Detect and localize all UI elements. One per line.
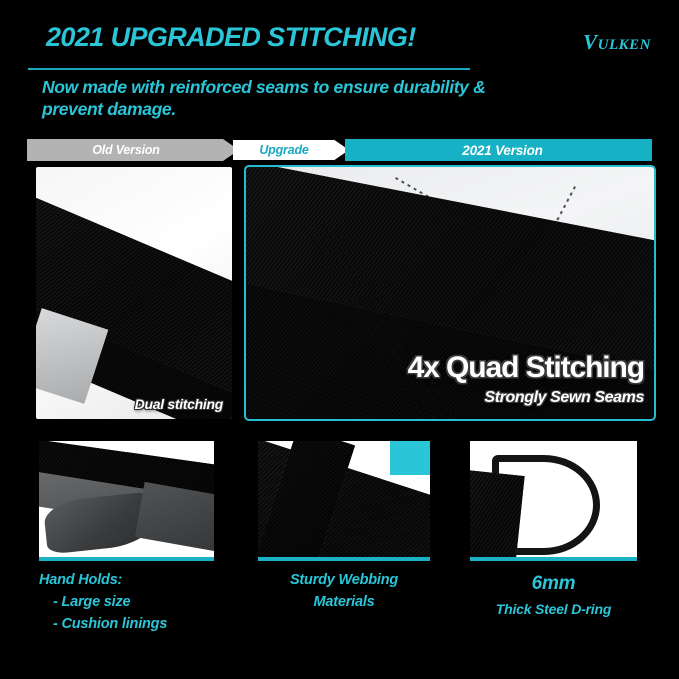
new-version-caption-sub: Strongly Sewn Seams xyxy=(484,389,644,407)
old-version-caption: Dual stitching xyxy=(135,396,223,412)
feature-title-webbing: Sturdy Webbing xyxy=(258,570,430,592)
page-subtitle: Now made with reinforced seams to ensure… xyxy=(42,76,512,121)
feature-caption-hand-holds: Hand Holds: - Large size - Cushion linin… xyxy=(39,570,214,635)
feature-title-hand-holds: Hand Holds: xyxy=(39,570,214,592)
feature-caption-dring: 6mm Thick Steel D-ring xyxy=(470,570,637,620)
brand-logo: Vulken xyxy=(583,30,651,55)
feature-subtitle-dring: Thick Steel D-ring xyxy=(470,599,637,620)
header-divider xyxy=(28,68,470,70)
feature-underline-1 xyxy=(39,557,214,561)
banner-segment-upgrade-label: Upgrade xyxy=(259,143,308,157)
feature-underline-3 xyxy=(470,557,637,561)
feature-title-dring: 6mm xyxy=(470,570,637,599)
feature-panel-dring: 6mm Thick Steel D-ring xyxy=(470,441,637,620)
banner-segment-old-version: Old Version xyxy=(27,139,239,161)
feature-underline-2 xyxy=(258,557,430,561)
banner-segment-2021-version-label: 2021 Version xyxy=(462,143,542,158)
feature-photo-hand-holds xyxy=(39,441,214,561)
feature-photo-dring xyxy=(470,441,637,561)
feature-bullet-large-size: - Large size xyxy=(39,592,214,614)
old-version-photo: Dual stitching xyxy=(36,167,232,419)
feature-bullet-cushion-linings: - Cushion linings xyxy=(39,614,214,636)
new-version-caption-main: 4x Quad Stitching xyxy=(408,351,644,385)
feature-caption-webbing: Sturdy Webbing Materials xyxy=(258,570,430,614)
feature-panel-webbing: Sturdy Webbing Materials xyxy=(258,441,430,614)
feature-panel-hand-holds: Hand Holds: - Large size - Cushion linin… xyxy=(39,441,214,635)
dring-strap xyxy=(470,470,525,561)
feature-subtitle-webbing: Materials xyxy=(258,592,430,614)
banner-segment-upgrade: Upgrade xyxy=(233,139,349,161)
new-version-photo: 4x Quad Stitching Strongly Sewn Seams xyxy=(244,165,656,421)
comparison-banner: Old Version Upgrade 2021 Version xyxy=(27,139,652,161)
page-title: 2021 UPGRADED STITCHING! xyxy=(46,22,416,53)
banner-segment-2021-version: 2021 Version xyxy=(345,139,652,161)
accent-corner xyxy=(390,441,430,475)
infographic-page: 2021 UPGRADED STITCHING! Vulken Now made… xyxy=(0,0,679,679)
feature-photo-webbing xyxy=(258,441,430,561)
banner-segment-old-version-label: Old Version xyxy=(92,143,160,157)
strap-lower-layer xyxy=(135,482,214,556)
